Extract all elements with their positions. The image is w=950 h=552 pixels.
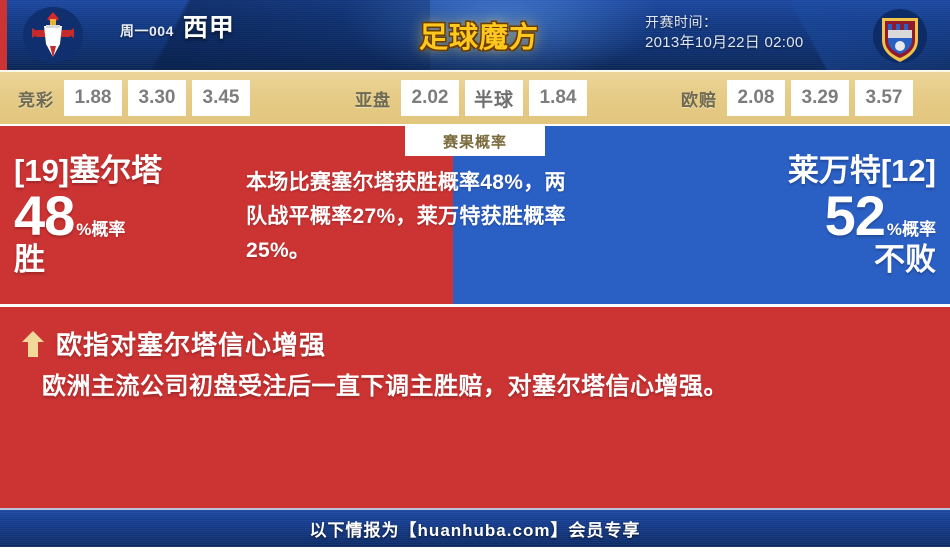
tab-result-probability[interactable]: 赛果概率 xyxy=(405,126,545,156)
insight-callout: 欧指对塞尔塔信心增强 欧洲主流公司初盘受注后一直下调主胜赔，对塞尔塔信心增强。 xyxy=(0,304,950,508)
member-notice-bar: 以下情报为【huanhuba.com】会员专享 xyxy=(0,508,950,547)
home-outcome-label: 胜 xyxy=(14,243,45,277)
arrow-up-icon xyxy=(22,331,44,357)
odds-cell-away[interactable]: 3.45 xyxy=(192,80,250,116)
brand-logo-text: 足球魔方 xyxy=(419,14,539,56)
match-prediction-card: 周一004 西甲 足球魔方 开赛时间： 2013年10月22日 02:00 xyxy=(0,0,950,552)
odds-bar: 竞彩 1.88 3.30 3.45 亚盘 2.02 半球 1.84 欧赔 2.0… xyxy=(0,70,950,124)
home-percent-line: 48 %概率 xyxy=(14,189,125,243)
away-outcome-label: 不败 xyxy=(874,243,936,277)
match-header: 周一004 西甲 足球魔方 开赛时间： 2013年10月22日 02:00 xyxy=(0,0,950,70)
tab-result-probability-label: 赛果概率 xyxy=(443,131,507,152)
away-percent-value: 52 xyxy=(825,189,885,243)
odds-group-label: 欧赔 xyxy=(681,86,717,111)
odds-group-label: 竞彩 xyxy=(18,86,54,111)
member-notice-text: 以下情报为【huanhuba.com】会员专享 xyxy=(310,516,641,541)
probability-summary-line-1: 本场比赛塞尔塔获胜概率48%，两 xyxy=(246,166,706,200)
odds-cell-draw[interactable]: 3.29 xyxy=(791,80,849,116)
away-percent-line: 52 %概率 xyxy=(825,189,936,243)
probability-summary: 本场比赛塞尔塔获胜概率48%，两 队战平概率27%，莱万特获胜概率 25%。 xyxy=(246,166,706,268)
brand-logo: 足球魔方 xyxy=(411,14,547,56)
kickoff-time: 开赛时间： 2013年10月22日 02:00 xyxy=(645,13,804,54)
odds-group-european: 欧赔 2.08 3.29 3.57 xyxy=(681,80,913,116)
odds-group-jingcai: 竞彩 1.88 3.30 3.45 xyxy=(18,80,250,116)
header-accent-strip xyxy=(0,0,7,70)
probability-summary-line-2: 队战平概率27%，莱万特获胜概率 xyxy=(246,200,706,234)
odds-cell-handicap[interactable]: 半球 xyxy=(465,80,523,116)
kickoff-label: 开赛时间： xyxy=(645,13,804,32)
away-percent-suffix: %概率 xyxy=(887,221,936,238)
probability-panel: 赛果概率 [19]塞尔塔 48 %概率 胜 本场比赛塞尔塔获胜概率48%，两 队… xyxy=(0,124,950,304)
away-team-crest-icon xyxy=(872,8,928,64)
probability-summary-line-3: 25%。 xyxy=(246,234,706,268)
odds-cell-home[interactable]: 1.88 xyxy=(64,80,122,116)
insight-callout-header: 欧指对塞尔塔信心增强 xyxy=(22,325,326,362)
match-number: 周一004 xyxy=(120,21,174,41)
odds-cell-away[interactable]: 3.57 xyxy=(855,80,913,116)
odds-group-asian-handicap: 亚盘 2.02 半球 1.84 xyxy=(355,80,587,116)
home-probability-block: [19]塞尔塔 48 %概率 胜 xyxy=(0,126,230,304)
home-percent-value: 48 xyxy=(14,189,74,243)
odds-cell-away[interactable]: 1.84 xyxy=(529,80,587,116)
kickoff-value: 2013年10月22日 02:00 xyxy=(645,32,804,54)
odds-cell-draw[interactable]: 3.30 xyxy=(128,80,186,116)
home-team-crest-icon xyxy=(22,6,84,64)
odds-cell-home[interactable]: 2.08 xyxy=(727,80,785,116)
insight-callout-body: 欧洲主流公司初盘受注后一直下调主胜赔，对塞尔塔信心增强。 xyxy=(42,369,922,405)
odds-group-label: 亚盘 xyxy=(355,86,391,111)
home-percent-suffix: %概率 xyxy=(76,221,125,238)
match-meta: 周一004 西甲 xyxy=(120,16,420,41)
odds-cell-home[interactable]: 2.02 xyxy=(401,80,459,116)
away-probability-block: 莱万特[12] 52 %概率 不败 xyxy=(720,126,950,304)
league-name: 西甲 xyxy=(183,16,235,41)
insight-callout-title: 欧指对塞尔塔信心增强 xyxy=(56,325,326,362)
